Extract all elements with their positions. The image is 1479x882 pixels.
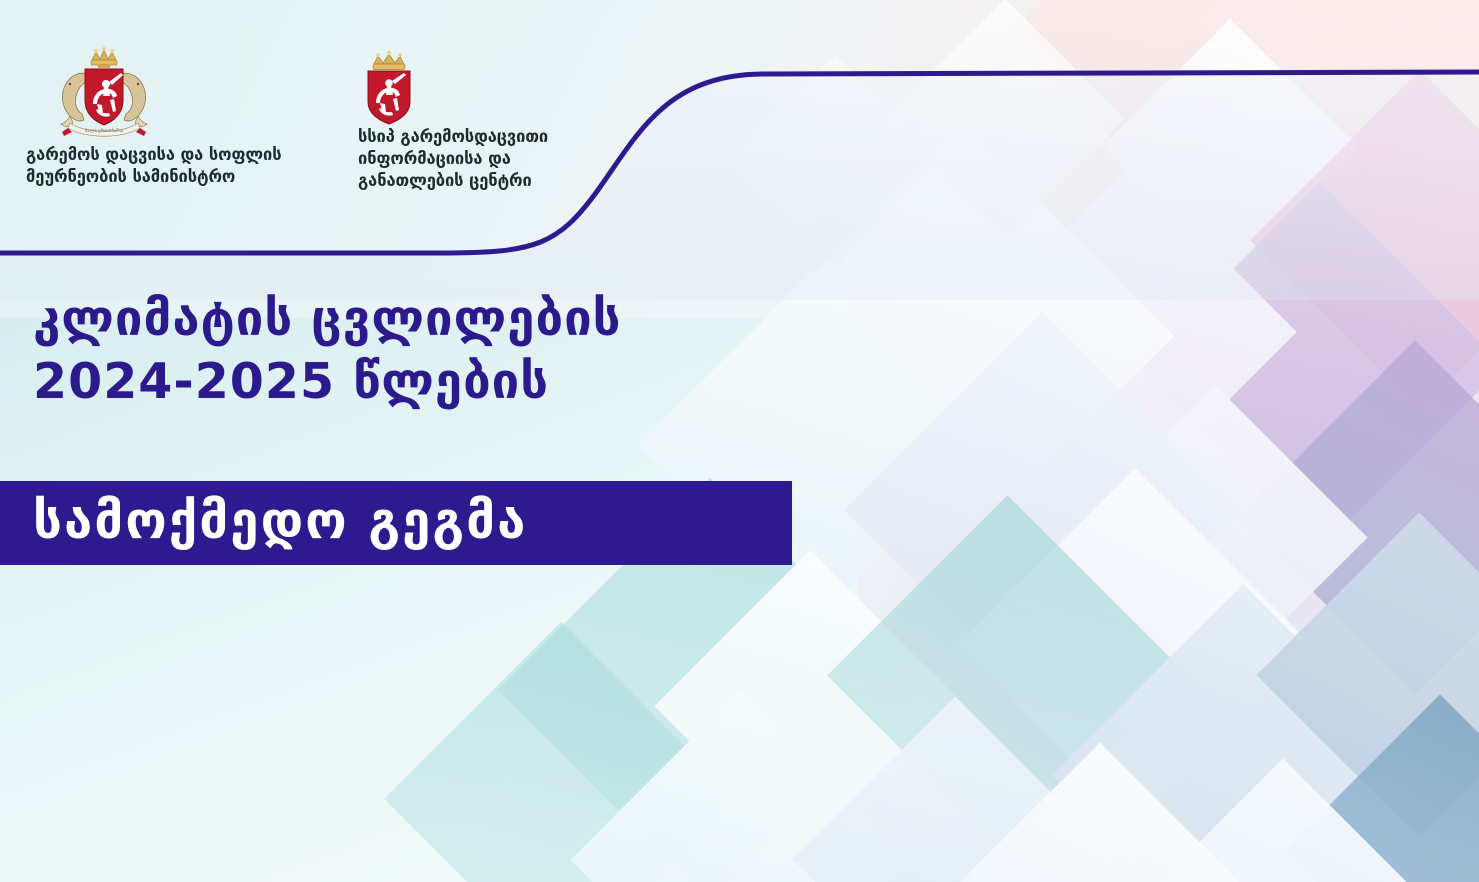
ministry-name: გარემოს დაცვისა და სოფლის მეურნეობის სამ… <box>26 144 326 188</box>
logo-group: ძალა ერთობაშია გარემოს დაცვისა და სოფლის… <box>0 0 660 200</box>
svg-text:ძალა ერთობაშია: ძალა ერთობაშია <box>85 127 124 134</box>
georgia-coat-of-arms-icon: ძალა ერთობაშია <box>48 44 160 144</box>
crown-icon <box>373 51 405 70</box>
crown-icon <box>91 47 117 68</box>
action-plan-banner: სამოქმედო გეგმა <box>0 481 792 565</box>
ministry-logo: ძალა ერთობაშია გარემოს დაცვისა და სოფლის… <box>26 44 326 188</box>
eiec-name: სსიპ გარემოსდაცვითი ინფორმაციისა და განა… <box>358 126 618 191</box>
cover-page: ძალა ერთობაშია გარემოს დაცვისა და სოფლის… <box>0 0 1479 882</box>
page-title: კლიმატის ცვლილების 2024-2025 წლების <box>33 288 853 413</box>
georgia-shield-crown-icon <box>358 48 420 126</box>
shield-icon <box>368 71 410 124</box>
eiec-logo: სსიპ გარემოსდაცვითი ინფორმაციისა და განა… <box>358 48 618 191</box>
banner-label: სამოქმედო გეგმა <box>0 496 527 547</box>
